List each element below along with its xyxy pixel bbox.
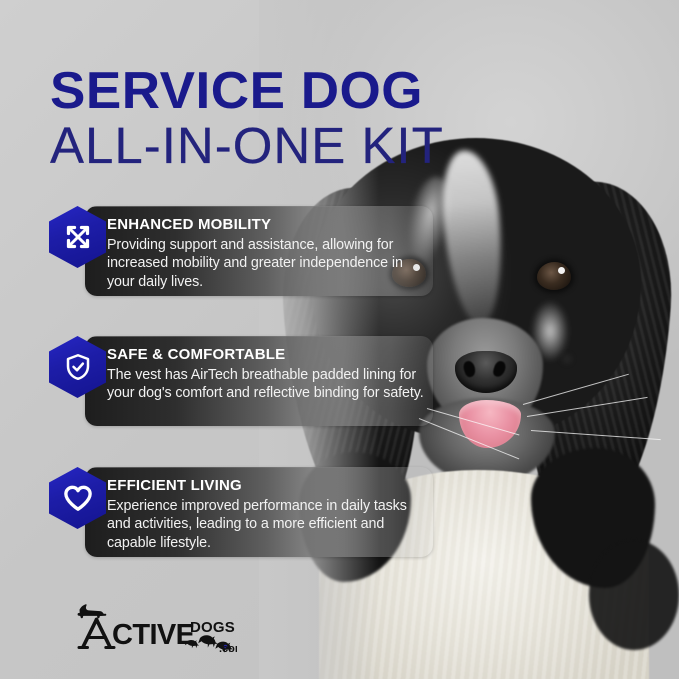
- logo-top-dog-icon: [78, 604, 107, 618]
- feature-description: Providing support and assistance, allowi…: [107, 236, 425, 292]
- dog-spot: [559, 352, 575, 366]
- feature-card-background: ENHANCED MOBILITY Providing support and …: [85, 206, 433, 296]
- title-line-2: ALL-IN-ONE KIT: [50, 119, 444, 173]
- feature-card-background: EFFICIENT LIVING Experience improved per…: [85, 467, 433, 557]
- dog-right-eye-glint: [558, 267, 565, 274]
- feature-title: EFFICIENT LIVING: [107, 478, 425, 495]
- logo-word-ctive: CTIVE: [112, 619, 195, 651]
- product-infographic: SERVICE DOG ALL-IN-ONE KIT ENHANCED MOBI…: [0, 0, 679, 679]
- feature-card-enhanced-mobility[interactable]: ENHANCED MOBILITY Providing support and …: [49, 200, 433, 296]
- feature-card-safe-comfortable[interactable]: SAFE & COMFORTABLE The vest has AirTech …: [49, 330, 433, 426]
- logo-word-com: .com: [219, 643, 237, 654]
- feature-description: Experience improved performance in daily…: [107, 497, 425, 553]
- feature-title: ENHANCED MOBILITY: [107, 217, 425, 234]
- feature-description: The vest has AirTech breathable padded l…: [107, 366, 425, 403]
- feature-card-efficient-living[interactable]: EFFICIENT LIVING Experience improved per…: [49, 461, 433, 557]
- brand-logo[interactable]: ActiveDogs.com CTIVE DOGS: [62, 592, 237, 654]
- feature-card-body: ENHANCED MOBILITY Providing support and …: [107, 217, 425, 291]
- dog-right-eye: [537, 262, 571, 290]
- logo-word-dogs: DOGS: [190, 619, 235, 636]
- logo-a-frame: [79, 620, 114, 648]
- feature-card-body: EFFICIENT LIVING Experience improved per…: [107, 478, 425, 552]
- title-line-1: SERVICE DOG: [50, 66, 452, 117]
- feature-card-background: SAFE & COMFORTABLE The vest has AirTech …: [85, 336, 433, 426]
- feature-card-body: SAFE & COMFORTABLE The vest has AirTech …: [107, 347, 425, 403]
- activedogs-logo-mark: CTIVE DOGS .com: [62, 592, 237, 654]
- page-title: SERVICE DOG ALL-IN-ONE KIT: [50, 66, 444, 173]
- dog-right-ear-tip: [589, 540, 679, 650]
- feature-title: SAFE & COMFORTABLE: [107, 347, 425, 364]
